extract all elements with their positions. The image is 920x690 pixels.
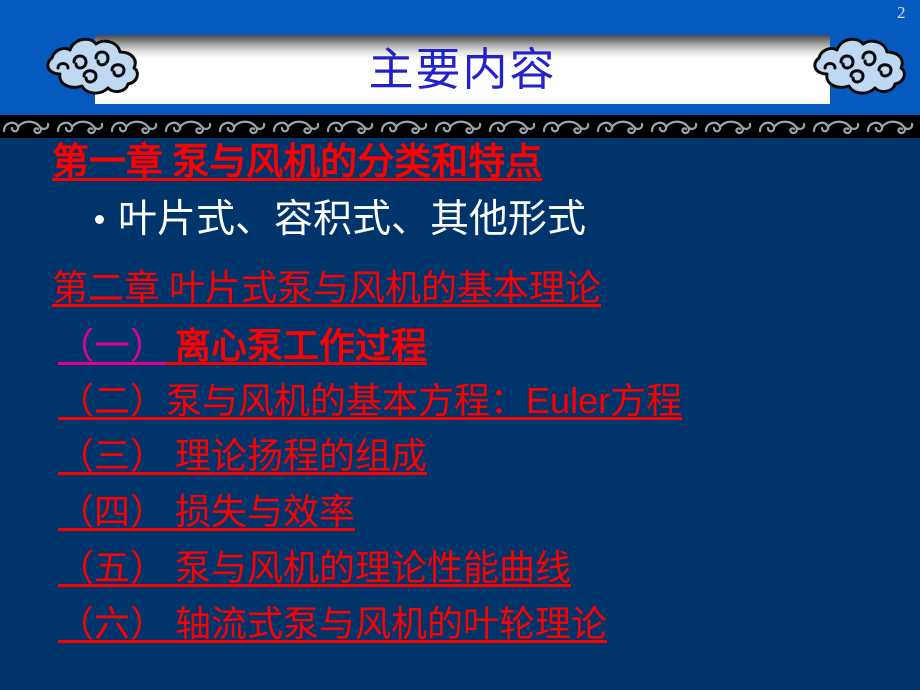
page-number: 2 xyxy=(897,2,906,24)
section-label: 离心泵工作过程 xyxy=(166,326,427,366)
spiral-motif-row xyxy=(0,115,920,138)
page-title: 主要内容 xyxy=(95,35,830,104)
slide-header: 主要内容 xyxy=(0,0,920,115)
section-label-tail: 方程 xyxy=(610,381,682,421)
section-label-latin: Euler xyxy=(526,380,610,421)
section-label: 泵与风机的基本方程： xyxy=(166,381,526,421)
cloud-ornament-icon xyxy=(38,30,148,108)
section-number: （六） xyxy=(58,604,166,644)
section-label: 理论扬程的组成 xyxy=(166,436,427,476)
section-number: （三） xyxy=(58,436,166,476)
outline-item-chapter-2[interactable]: 第二章 叶片式泵与风机的基本理论 xyxy=(52,266,601,311)
outline-item-label: 叶片式、容积式、其他形式 xyxy=(118,198,586,241)
section-label: 轴流式泵与风机的叶轮理论 xyxy=(166,604,607,644)
section-number: （一） xyxy=(58,326,166,366)
decorative-border-band xyxy=(0,115,920,138)
section-label: 泵与风机的理论性能曲线 xyxy=(166,548,571,588)
section-number: （五） xyxy=(58,548,166,588)
outline-item-section-5[interactable]: （五） 泵与风机的理论性能曲线 xyxy=(58,546,571,591)
section-number: （四） xyxy=(58,492,166,532)
outline-item-section-6[interactable]: （六） 轴流式泵与风机的叶轮理论 xyxy=(58,602,607,647)
section-label: 损失与效率 xyxy=(166,492,355,532)
outline-item-section-3[interactable]: （三） 理论扬程的组成 xyxy=(58,434,427,479)
presentation-slide: 主要内容 xyxy=(0,0,920,690)
outline-item-chapter-1[interactable]: 第一章 泵与风机的分类和特点 xyxy=(52,140,542,186)
bullet-icon xyxy=(95,215,104,224)
section-number: （二） xyxy=(58,381,166,421)
slide-content: 第一章 泵与风机的分类和特点 叶片式、容积式、其他形式 第二章 叶片式泵与风机的… xyxy=(0,138,920,690)
outline-item-section-4[interactable]: （四） 损失与效率 xyxy=(58,490,355,535)
cloud-ornament-icon xyxy=(805,30,915,108)
outline-item-section-1[interactable]: （一） 离心泵工作过程 xyxy=(58,324,427,369)
outline-item-section-2[interactable]: （二）泵与风机的基本方程：Euler方程 xyxy=(58,378,682,424)
outline-item-chapter-1-bullet[interactable]: 叶片式、容积式、其他形式 xyxy=(95,196,586,244)
